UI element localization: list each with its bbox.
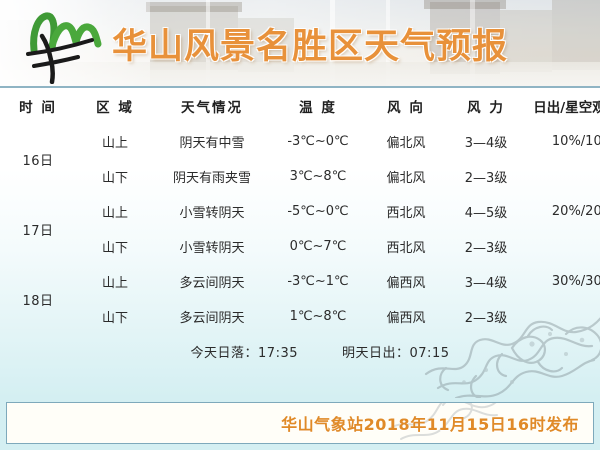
- day-label: 17日: [0, 194, 76, 264]
- header-banner: 华山风景名胜区天气预报: [0, 0, 600, 88]
- cell-wind-direction: 偏北风: [366, 124, 446, 159]
- table-row: 17日 山上 小雪转阴天 -5℃~0℃ 西北风 4—5级 20%/20%: [0, 194, 600, 229]
- cell-view-rate: 30%/30%: [526, 264, 600, 299]
- page-title: 华山风景名胜区天气预报: [112, 18, 508, 69]
- cell-area: 山下: [76, 159, 154, 194]
- cell-temperature: 0℃~7℃: [270, 229, 366, 264]
- column-header-wind-direction: 风 向: [366, 88, 446, 124]
- cell-area: 山上: [76, 194, 154, 229]
- footer-bar: 华山气象站2018年11月15日16时发布: [0, 398, 600, 450]
- table-row: 18日 山上 多云间阴天 -3℃~1℃ 偏西风 3—4级 30%/30%: [0, 264, 600, 299]
- sun-times-row: 今天日落：17:35明天日出：07:15: [0, 334, 600, 369]
- cell-wind-direction: 西北风: [366, 194, 446, 229]
- table-header-row: 时 间 区 域 天气情况 温 度 风 向 风 力 日出/星空观赏率: [0, 88, 600, 124]
- cell-temperature: -3℃~0℃: [270, 124, 366, 159]
- cell-condition: 小雪转阴天: [154, 229, 270, 264]
- cell-temperature: -5℃~0℃: [270, 194, 366, 229]
- sunrise-label: 明天日出：: [342, 342, 410, 361]
- forecast-table: 时 间 区 域 天气情况 温 度 风 向 风 力 日出/星空观赏率 16日 山上…: [0, 88, 600, 369]
- column-header-area: 区 域: [76, 88, 154, 124]
- cell-wind-force: 2—3级: [446, 159, 526, 194]
- cell-wind-force: 3—4级: [446, 124, 526, 159]
- cell-temperature: -3℃~1℃: [270, 264, 366, 299]
- cell-temperature: 1℃~8℃: [270, 299, 366, 334]
- cell-area: 山下: [76, 299, 154, 334]
- cell-wind-force: 2—3级: [446, 229, 526, 264]
- sunset-value: 17:35: [258, 346, 298, 361]
- footer-panel: 华山气象站2018年11月15日16时发布: [6, 402, 594, 444]
- cell-wind-direction: 偏北风: [366, 159, 446, 194]
- table-row: 山下 阴天有雨夹雪 3℃~8℃ 偏北风 2—3级: [0, 159, 600, 194]
- cell-view-rate: [526, 229, 600, 264]
- sunrise-value: 07:15: [410, 346, 450, 361]
- table-row: 山下 小雪转阴天 0℃~7℃ 西北风 2—3级: [0, 229, 600, 264]
- cell-view-rate: 10%/10%: [526, 124, 600, 159]
- column-header-condition: 天气情况: [154, 88, 270, 124]
- day-label: 16日: [0, 124, 76, 194]
- cell-view-rate: [526, 159, 600, 194]
- cell-condition: 阴天有雨夹雪: [154, 159, 270, 194]
- sun-times-cell: 今天日落：17:35明天日出：07:15: [0, 334, 600, 369]
- table-row: 山下 多云间阴天 1℃~8℃ 偏西风 2—3级: [0, 299, 600, 334]
- column-header-time: 时 间: [0, 88, 76, 124]
- huashan-logo: [16, 6, 108, 84]
- cell-wind-force: 3—4级: [446, 264, 526, 299]
- weather-forecast-page: 华山风景名胜区天气预报: [0, 0, 600, 450]
- cell-condition: 多云间阴天: [154, 264, 270, 299]
- cell-temperature: 3℃~8℃: [270, 159, 366, 194]
- cell-condition: 多云间阴天: [154, 299, 270, 334]
- cell-view-rate: 20%/20%: [526, 194, 600, 229]
- day-label: 18日: [0, 264, 76, 334]
- cell-condition: 小雪转阴天: [154, 194, 270, 229]
- cell-wind-force: 2—3级: [446, 299, 526, 334]
- cell-area: 山上: [76, 124, 154, 159]
- column-header-temperature: 温 度: [270, 88, 366, 124]
- cell-condition: 阴天有中雪: [154, 124, 270, 159]
- footer-issue-text: 华山气象站2018年11月15日16时发布: [281, 411, 579, 435]
- cell-wind-direction: 偏西风: [366, 299, 446, 334]
- table-row: 16日 山上 阴天有中雪 -3℃~0℃ 偏北风 3—4级 10%/10%: [0, 124, 600, 159]
- column-header-wind-force: 风 力: [446, 88, 526, 124]
- column-header-view-rate: 日出/星空观赏率: [526, 88, 600, 124]
- cell-wind-force: 4—5级: [446, 194, 526, 229]
- cell-area: 山上: [76, 264, 154, 299]
- sunset-label: 今天日落：: [191, 342, 259, 361]
- forecast-board: 时 间 区 域 天气情况 温 度 风 向 风 力 日出/星空观赏率 16日 山上…: [0, 88, 600, 398]
- cell-wind-direction: 西北风: [366, 229, 446, 264]
- cell-wind-direction: 偏西风: [366, 264, 446, 299]
- cell-view-rate: [526, 299, 600, 334]
- cell-area: 山下: [76, 229, 154, 264]
